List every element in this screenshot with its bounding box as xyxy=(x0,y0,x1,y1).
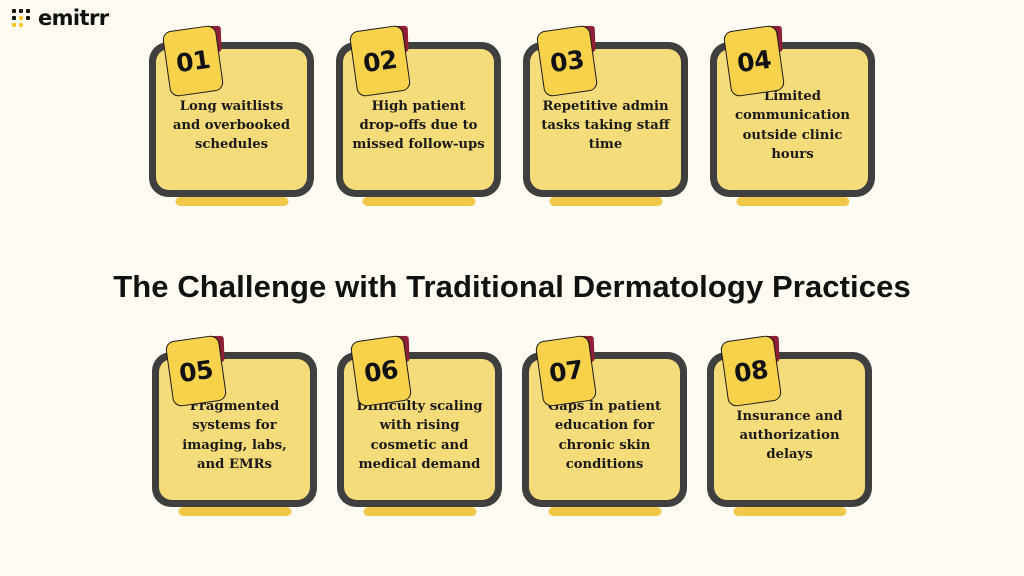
card-number-badge: 03 xyxy=(536,25,599,98)
card-bottom-bar xyxy=(178,507,291,516)
badge-face: 05 xyxy=(165,335,228,408)
card-number-badge: 02 xyxy=(349,25,412,98)
badge-face: 04 xyxy=(723,25,786,98)
page-title: The Challenge with Traditional Dermatolo… xyxy=(0,267,1024,308)
card-text: High patient drop-offs due to missed fol… xyxy=(352,97,485,154)
card-number: 02 xyxy=(362,46,399,75)
card-text: Gaps in patient education for chronic sk… xyxy=(538,397,671,474)
card-number-badge: 01 xyxy=(162,25,225,98)
card-text: Difficulty scaling with rising cosmetic … xyxy=(353,397,486,474)
card-number-badge: 04 xyxy=(723,25,786,98)
badge-face: 02 xyxy=(349,25,412,98)
brand-name: emitrr xyxy=(38,8,108,29)
brand-logo[interactable]: emitrr xyxy=(12,8,108,29)
card-number: 08 xyxy=(733,356,770,385)
challenge-card[interactable]: High patient drop-offs due to missed fol… xyxy=(336,42,501,197)
challenge-card[interactable]: Long waitlists and overbooked schedules … xyxy=(149,42,314,197)
challenge-card[interactable]: Limited communication outside clinic hou… xyxy=(710,42,875,197)
challenge-card[interactable]: Insurance and authorization delays 08 xyxy=(707,352,872,507)
card-bottom-bar xyxy=(549,197,662,206)
card-number: 06 xyxy=(363,356,400,385)
card-text: Long waitlists and overbooked schedules xyxy=(165,97,298,154)
challenge-card[interactable]: Repetitive admin tasks taking staff time… xyxy=(523,42,688,197)
card-text: Insurance and authorization delays xyxy=(723,407,856,464)
badge-face: 07 xyxy=(535,335,598,408)
card-number-badge: 07 xyxy=(535,335,598,408)
card-number-badge: 06 xyxy=(350,335,413,408)
badge-face: 03 xyxy=(536,25,599,98)
card-bottom-bar xyxy=(362,197,475,206)
card-bottom-bar xyxy=(548,507,661,516)
card-text: Repetitive admin tasks taking staff time xyxy=(539,97,672,154)
card-number-badge: 08 xyxy=(720,335,783,408)
challenge-card[interactable]: Fragmented systems for imaging, labs, an… xyxy=(152,352,317,507)
card-bottom-bar xyxy=(363,507,476,516)
dot-grid-icon xyxy=(12,9,31,28)
badge-face: 08 xyxy=(720,335,783,408)
card-text: Limited communication outside clinic hou… xyxy=(726,87,859,164)
badge-face: 06 xyxy=(350,335,413,408)
cards-row-top: Long waitlists and overbooked schedules … xyxy=(0,42,1024,197)
card-bottom-bar xyxy=(733,507,846,516)
card-number: 03 xyxy=(549,46,586,75)
card-text: Fragmented systems for imaging, labs, an… xyxy=(168,397,301,474)
challenge-card[interactable]: Difficulty scaling with rising cosmetic … xyxy=(337,352,502,507)
card-bottom-bar xyxy=(175,197,288,206)
card-number-badge: 05 xyxy=(165,335,228,408)
card-bottom-bar xyxy=(736,197,849,206)
card-number: 05 xyxy=(178,356,215,385)
cards-row-bottom: Fragmented systems for imaging, labs, an… xyxy=(0,352,1024,507)
challenge-card[interactable]: Gaps in patient education for chronic sk… xyxy=(522,352,687,507)
card-number: 01 xyxy=(175,46,212,75)
badge-face: 01 xyxy=(162,25,225,98)
card-number: 07 xyxy=(548,356,585,385)
card-number: 04 xyxy=(736,46,773,75)
